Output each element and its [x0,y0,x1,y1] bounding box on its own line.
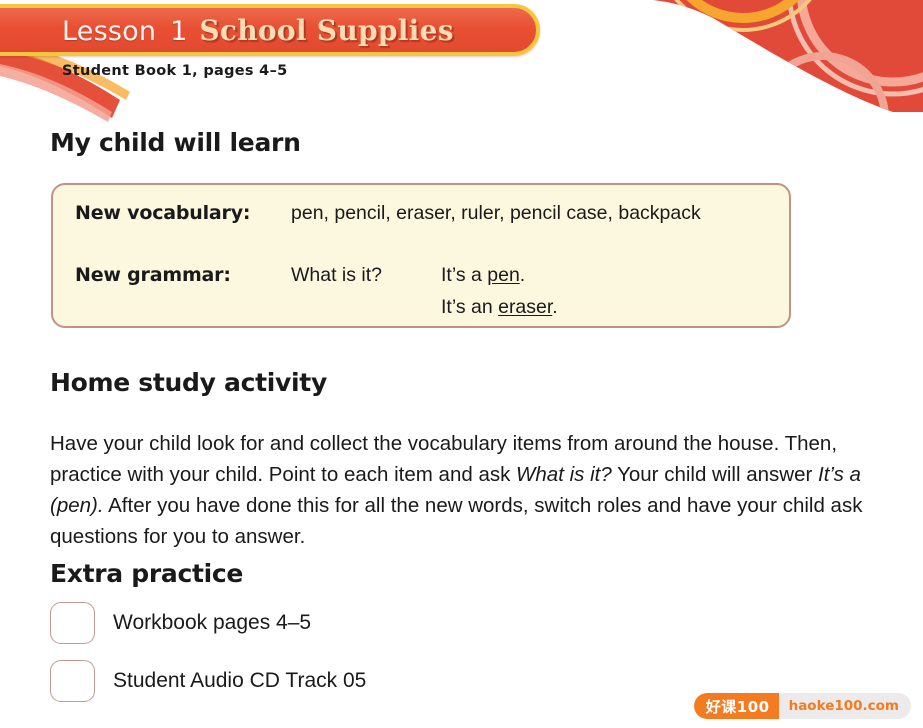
grammar-answer-1-suffix: . [520,264,525,286]
grammar-question: What is it? [291,264,382,287]
grammar-answer-2-suffix: . [552,296,557,318]
home-study-paragraph: Have your child look for and collect the… [50,428,895,552]
grammar-answer-1-keyword: pen [487,264,520,286]
extra-practice-label-audio-cd: Student Audio CD Track 05 [113,669,366,693]
grammar-answer-eraser: It’s an eraser. [441,296,558,319]
grammar-answer-pen: It’s a pen. [441,264,525,287]
lesson-label: Lesson [62,16,156,47]
extra-practice-item-workbook[interactable]: Workbook pages 4–5 [50,602,311,644]
home-study-text-part-3: After you have done this for all the new… [50,494,862,548]
watermark-brand: 好课100 [694,693,779,719]
grammar-answer-2-prefix: It’s an [441,296,498,318]
home-study-italic-question: What is it? [516,463,612,486]
grammar-answer-1-prefix: It’s a [441,264,487,286]
checkbox-audio-cd[interactable] [50,660,95,702]
watermark-badge: 好课100 haoke100.com [694,693,911,719]
heading-home-study-activity: Home study activity [50,368,327,397]
decorative-corner-top-right [593,0,923,112]
grammar-answer-2-keyword: eraser [498,296,552,318]
new-grammar-label: New grammar: [75,264,231,286]
checkbox-workbook[interactable] [50,602,95,644]
lesson-number: 1 [170,16,187,47]
new-vocabulary-label: New vocabulary: [75,202,250,224]
vocabulary-grammar-box: New vocabulary: pen, pencil, eraser, rul… [51,183,791,328]
heading-my-child-will-learn: My child will learn [50,128,301,157]
new-vocabulary-value: pen, pencil, eraser, ruler, pencil case,… [291,202,701,225]
lesson-banner-inner: Lesson 1 School Supplies [62,14,454,47]
heading-extra-practice: Extra practice [50,559,243,588]
extra-practice-item-audio-cd[interactable]: Student Audio CD Track 05 [50,660,366,702]
home-study-text-part-2: Your child will answer [612,463,818,486]
extra-practice-label-workbook: Workbook pages 4–5 [113,611,311,635]
watermark-domain: haoke100.com [779,693,911,719]
lesson-banner: Lesson 1 School Supplies [0,4,540,56]
student-book-reference: Student Book 1, pages 4–5 [62,63,288,79]
lesson-title: School Supplies [199,14,453,47]
